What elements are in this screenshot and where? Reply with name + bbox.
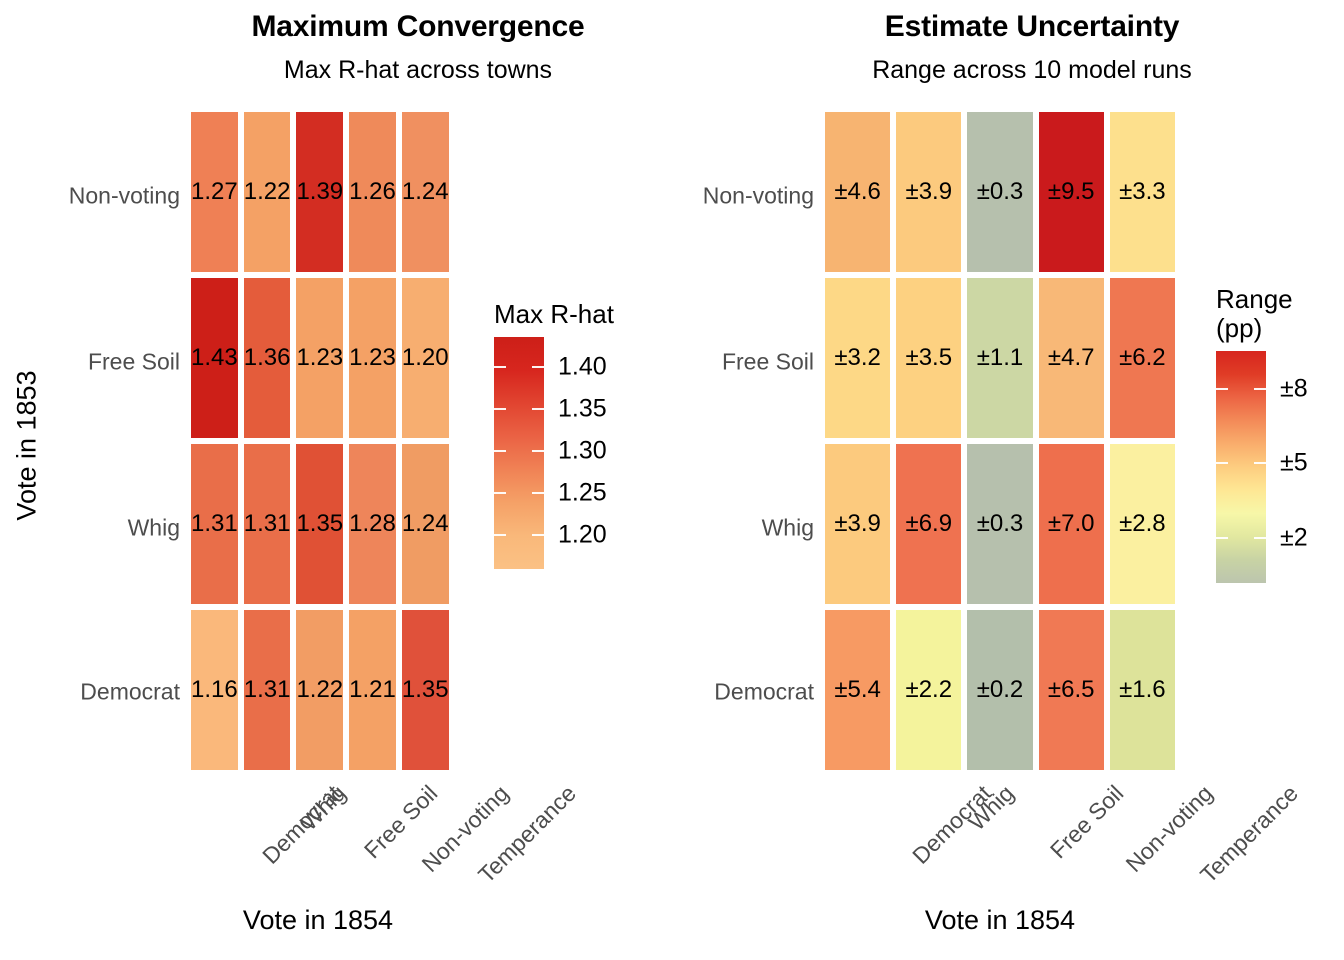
right-y-tick-free-soil: Free Soil (722, 349, 814, 376)
right-heatmap-cell: ±4.7 (1039, 278, 1104, 438)
right-heatmap-cell-label: ±0.3 (977, 512, 1024, 536)
right-heatmap-cell: ±2.8 (1110, 444, 1175, 604)
left-y-tick-non-voting: Non-voting (69, 183, 180, 210)
left-heatmap-cell-label: 1.27 (191, 180, 238, 204)
left-y-tick-whig: Whig (128, 515, 180, 542)
right-heatmap-cell: ±3.2 (825, 278, 890, 438)
right-heatmap-cell: ±2.2 (896, 610, 961, 770)
right-legend-tick-mark (1216, 388, 1228, 390)
left-heatmap-cell: 1.22 (296, 610, 343, 770)
left-heatmap-cell: 1.21 (349, 610, 396, 770)
left-heatmap-cell: 1.39 (296, 112, 343, 272)
left-legend-tick-mark (494, 450, 506, 452)
right-heatmap-cell-label: ±7.0 (1048, 512, 1095, 536)
left-heatmap-cell-label: 1.16 (191, 678, 238, 702)
right-heatmap-cell: ±3.5 (896, 278, 961, 438)
left-legend-tick-mark (532, 492, 544, 494)
right-heatmap-cell-label: ±2.8 (1119, 512, 1166, 536)
left-heatmap-cell-label: 1.35 (296, 512, 343, 536)
right-x-tick-free-soil: Free Soil (1045, 780, 1129, 864)
left-heatmap-cell: 1.35 (402, 610, 449, 770)
left-heatmap: 1.271.221.391.261.241.431.361.231.231.20… (191, 112, 445, 770)
right-heatmap-cell-label: ±4.7 (1048, 346, 1095, 370)
left-heatmap-cell: 1.31 (244, 444, 291, 604)
left-heatmap-cell: 1.43 (191, 278, 238, 438)
left-heatmap-cell: 1.36 (244, 278, 291, 438)
left-legend-tick-mark (494, 408, 506, 410)
left-heatmap-cell-label: 1.31 (191, 512, 238, 536)
left-heatmap-cell-label: 1.21 (349, 678, 396, 702)
right-legend-tick-label: ±2 (1280, 524, 1308, 553)
right-heatmap-cell-label: ±0.3 (977, 180, 1024, 204)
right-heatmap-cell: ±4.6 (825, 112, 890, 272)
right-legend-tick-label: ±5 (1280, 449, 1308, 478)
right-heatmap-cell: ±1.6 (1110, 610, 1175, 770)
right-legend: Range (pp) ±8±5±2 (1216, 285, 1336, 601)
right-heatmap-cell-label: ±1.6 (1119, 678, 1166, 702)
right-legend-tick-mark (1216, 462, 1228, 464)
left-legend-tick-label: 1.40 (558, 352, 607, 381)
left-legend-tick-label: 1.20 (558, 521, 607, 550)
left-heatmap-cell: 1.23 (349, 278, 396, 438)
right-heatmap-cell: ±5.4 (825, 610, 890, 770)
left-heatmap-cell-label: 1.23 (296, 346, 343, 370)
right-heatmap-cell: ±9.5 (1039, 112, 1104, 272)
right-heatmap-cell: ±1.1 (967, 278, 1032, 438)
right-heatmap-cell-label: ±3.9 (906, 180, 953, 204)
left-heatmap-cell: 1.16 (191, 610, 238, 770)
left-heatmap-cell-label: 1.24 (402, 512, 449, 536)
right-heatmap-cell-label: ±6.2 (1119, 346, 1166, 370)
right-heatmap-cell-label: ±1.1 (977, 346, 1024, 370)
left-heatmap-cell-label: 1.26 (349, 180, 396, 204)
left-y-tick-free-soil: Free Soil (88, 349, 180, 376)
right-heatmap-cell-label: ±3.2 (834, 346, 881, 370)
left-legend-tick-label: 1.25 (558, 479, 607, 508)
right-heatmap-cell: ±3.3 (1110, 112, 1175, 272)
right-legend-tick-mark (1254, 462, 1266, 464)
right-legend-title-line1: Range (1216, 285, 1336, 314)
left-legend-title: Max R-hat (494, 300, 674, 329)
right-legend-gradient-bar (1216, 351, 1266, 583)
left-heatmap-cell: 1.26 (349, 112, 396, 272)
left-heatmap-cell-label: 1.31 (244, 678, 291, 702)
right-legend-tick-label: ±8 (1280, 374, 1308, 403)
left-legend-tick-mark (532, 534, 544, 536)
right-heatmap-cell-label: ±3.5 (906, 346, 953, 370)
left-heatmap-cell: 1.24 (402, 112, 449, 272)
left-legend-tick-mark (494, 492, 506, 494)
left-heatmap-cell-label: 1.20 (402, 346, 449, 370)
right-heatmap-cell: ±0.3 (967, 112, 1032, 272)
right-heatmap-cell-label: ±6.5 (1048, 678, 1095, 702)
left-legend-tick-mark (532, 366, 544, 368)
right-heatmap-cell-label: ±6.9 (906, 512, 953, 536)
left-heatmap-cell: 1.20 (402, 278, 449, 438)
left-heatmap-cell: 1.31 (191, 444, 238, 604)
left-heatmap-cell: 1.23 (296, 278, 343, 438)
left-legend: Max R-hat 1.401.351.301.251.20 (494, 300, 674, 577)
left-heatmap-cell: 1.28 (349, 444, 396, 604)
left-legend-tick-label: 1.35 (558, 394, 607, 423)
right-heatmap-cell: ±7.0 (1039, 444, 1104, 604)
right-y-tick-whig: Whig (762, 515, 814, 542)
left-heatmap-cell: 1.22 (244, 112, 291, 272)
left-y-axis-title: Vote in 1853 (12, 366, 43, 526)
left-heatmap-cell-label: 1.22 (296, 678, 343, 702)
left-heatmap-cell: 1.24 (402, 444, 449, 604)
left-heatmap-cell-label: 1.35 (402, 678, 449, 702)
right-heatmap-cell-label: ±4.6 (834, 180, 881, 204)
right-legend-tick-mark (1254, 537, 1266, 539)
right-heatmap: ±4.6±3.9±0.3±9.5±3.3±3.2±3.5±1.1±4.7±6.2… (825, 112, 1175, 770)
left-heatmap-cell: 1.27 (191, 112, 238, 272)
left-x-axis-title: Vote in 1854 (168, 905, 468, 936)
left-heatmap-cell-label: 1.28 (349, 512, 396, 536)
left-heatmap-cell-label: 1.23 (349, 346, 396, 370)
left-panel-title: Maximum Convergence (193, 10, 643, 44)
right-heatmap-cell-label: ±2.2 (906, 678, 953, 702)
left-heatmap-cell-label: 1.24 (402, 180, 449, 204)
right-heatmap-cell: ±6.2 (1110, 278, 1175, 438)
left-heatmap-cell-label: 1.43 (191, 346, 238, 370)
left-heatmap-cell-label: 1.39 (296, 180, 343, 204)
right-heatmap-cell: ±3.9 (825, 444, 890, 604)
right-heatmap-cell: ±6.9 (896, 444, 961, 604)
left-panel-subtitle: Max R-hat across towns (193, 56, 643, 85)
right-legend-tick-mark (1254, 388, 1266, 390)
right-x-axis-title: Vote in 1854 (850, 905, 1150, 936)
right-heatmap-cell-label: ±0.2 (977, 678, 1024, 702)
right-heatmap-cell-label: ±3.9 (834, 512, 881, 536)
right-y-tick-democrat: Democrat (714, 679, 814, 706)
left-heatmap-cell: 1.31 (244, 610, 291, 770)
right-heatmap-cell-label: ±9.5 (1048, 180, 1095, 204)
left-legend-tick-label: 1.30 (558, 437, 607, 466)
left-heatmap-cell: 1.35 (296, 444, 343, 604)
right-heatmap-cell: ±0.3 (967, 444, 1032, 604)
right-panel-subtitle: Range across 10 model runs (827, 56, 1237, 85)
right-legend-title-line2: (pp) (1216, 314, 1336, 343)
left-heatmap-cell-label: 1.22 (244, 180, 291, 204)
right-heatmap-cell-label: ±5.4 (834, 678, 881, 702)
right-y-tick-non-voting: Non-voting (703, 183, 814, 210)
left-legend-tick-mark (494, 534, 506, 536)
right-heatmap-cell: ±6.5 (1039, 610, 1104, 770)
right-panel-title: Estimate Uncertainty (827, 10, 1237, 44)
left-legend-tick-mark (532, 450, 544, 452)
right-heatmap-cell-label: ±3.3 (1119, 180, 1166, 204)
figure-canvas: Maximum Convergence Max R-hat across tow… (0, 0, 1344, 960)
right-heatmap-cell: ±0.2 (967, 610, 1032, 770)
left-legend-tick-mark (494, 366, 506, 368)
left-heatmap-cell-label: 1.36 (244, 346, 291, 370)
left-y-tick-democrat: Democrat (80, 679, 180, 706)
left-heatmap-cell-label: 1.31 (244, 512, 291, 536)
right-legend-tick-mark (1216, 537, 1228, 539)
right-heatmap-cell: ±3.9 (896, 112, 961, 272)
left-legend-tick-mark (532, 408, 544, 410)
